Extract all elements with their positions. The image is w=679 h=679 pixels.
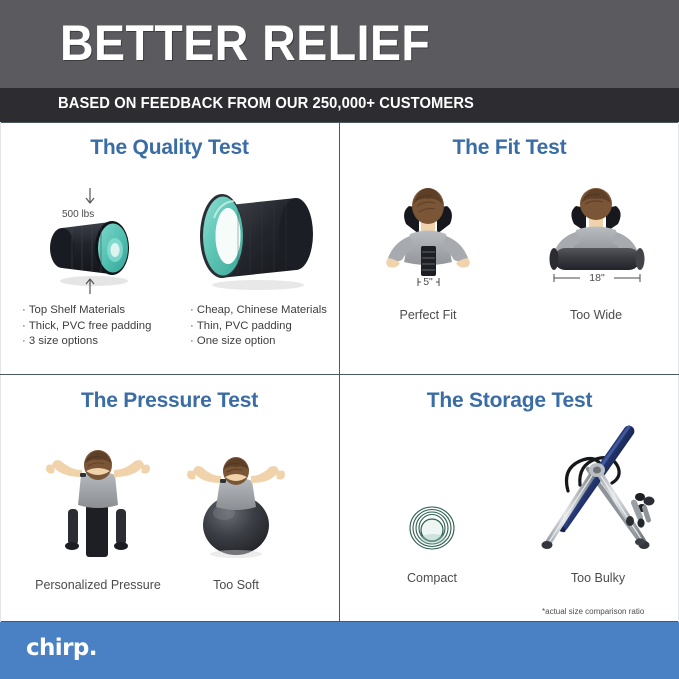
perfect-fit-caption: Perfect Fit — [366, 308, 490, 322]
header-subbanner: BASED ON FEEDBACK FROM OUR 250,000+ CUST… — [0, 88, 679, 122]
comparison-grid: The Quality Test — [0, 122, 679, 622]
inversion-table-illustration — [522, 413, 678, 561]
personalized-pressure-illustration — [36, 449, 160, 559]
ankle-clamp — [626, 493, 655, 528]
too-wide-caption: Too Wide — [536, 308, 656, 322]
personalized-pressure-caption: Personalized Pressure — [10, 578, 186, 592]
bullet-item: 3 size options — [22, 334, 151, 350]
bullet-item: One size option — [190, 334, 327, 350]
compact-coil-icon — [402, 499, 462, 557]
bullet-item: Top Shelf Materials — [22, 303, 151, 319]
quadrant-fit-test: The Fit Test — [340, 122, 679, 374]
too-soft-illustration — [180, 453, 292, 559]
fit-test-title: The Fit Test — [340, 136, 679, 160]
perfect-fit-illustration — [380, 178, 476, 288]
pressure-test-title: The Pressure Test — [0, 389, 339, 413]
header-banner: BETTER RELIEF — [0, 0, 679, 88]
load-arrow-top — [86, 188, 94, 203]
quality-test-title: The Quality Test — [0, 136, 339, 160]
quadrant-pressure-test: The Pressure Test — [0, 375, 339, 627]
competitor-wheel-illustration — [192, 184, 332, 294]
bullet-item: Thick, PVC free padding — [22, 319, 151, 335]
header-subtitle: BASED ON FEEDBACK FROM OUR 250,000+ CUST… — [58, 95, 474, 113]
too-bulky-caption: Too Bulky — [548, 571, 648, 585]
footer-bar: chirp. — [0, 622, 679, 679]
bullet-item: Cheap, Chinese Materials — [190, 303, 327, 319]
too-soft-caption: Too Soft — [196, 578, 276, 592]
storage-test-title: The Storage Test — [340, 389, 679, 413]
quadrant-storage-test: The Storage Test Compact — [340, 375, 679, 627]
infographic-page: BETTER RELIEF BASED ON FEEDBACK FROM OUR… — [0, 0, 679, 679]
chirp-wheel-illustration — [38, 186, 158, 296]
bullet-item: Thin, PVC padding — [190, 319, 327, 335]
chirp-logo: chirp. — [26, 635, 97, 661]
quality-good-bullets: Top Shelf Materials Thick, PVC free padd… — [22, 303, 151, 350]
fit-measure-bad: 18" — [580, 272, 614, 284]
weight-capacity-label: 500 lbs — [62, 209, 94, 220]
page-title: BETTER RELIEF — [60, 14, 430, 72]
compact-caption: Compact — [390, 571, 474, 585]
quality-bad-bullets: Cheap, Chinese Materials Thin, PVC paddi… — [190, 303, 327, 350]
storage-footnote: *actual size comparison ratio — [542, 607, 644, 616]
fit-measure-good: 5" — [380, 276, 476, 288]
quadrant-quality-test: The Quality Test — [0, 122, 339, 374]
